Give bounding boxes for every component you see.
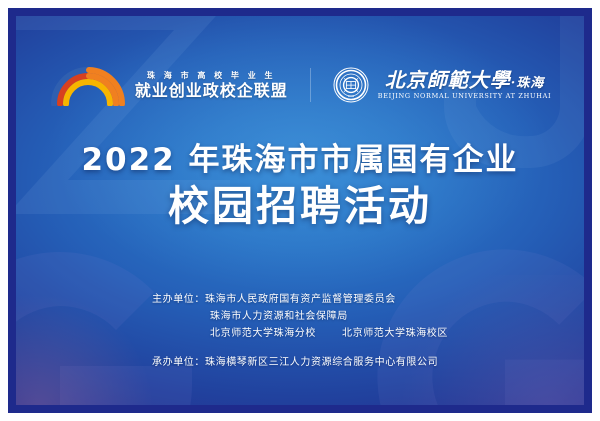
alliance-subtitle: 珠 海 市 高 校 毕 业 生 [147, 72, 276, 80]
university-campus-cn: 珠海 [516, 76, 544, 91]
host-group: 主办单位：珠海市人民政府国有资产监督管理委员会 珠海市人力资源和社会保障局 北京… [152, 291, 448, 371]
page-title: 2022 年珠海市市属国有企业 校园招聘活动 [16, 142, 584, 231]
alliance-text-block: 珠 海 市 高 校 毕 业 生 就业创业政校企联盟 [135, 72, 288, 99]
organizer-value: 珠海横琴新区三江人力资源综合服务中心有限公司 [205, 357, 438, 368]
university-logo: 北京師範大學·珠海 BEIJING NORMAL UNIVERSITY AT Z… [333, 67, 551, 103]
title-line-1: 2022 年珠海市市属国有企业 [16, 142, 584, 179]
university-name-en: BEIJING NORMAL UNIVERSITY AT ZHUHAI [378, 93, 551, 100]
title-line-2: 校园招聘活动 [16, 182, 584, 231]
organizer-line: 承办单位：珠海横琴新区三江人力资源综合服务中心有限公司 [152, 354, 448, 371]
host-line-3-a: 北京师范大学珠海分校 [210, 328, 316, 339]
host-line-2: 珠海市人力资源和社会保障局 [152, 308, 448, 325]
poster-canvas: 珠 海 市 高 校 毕 业 生 就业创业政校企联盟 [0, 0, 600, 421]
university-name-cn-row: 北京師範大學·珠海 [385, 70, 545, 90]
logo-row: 珠 海 市 高 校 毕 业 生 就业创业政校企联盟 [16, 64, 584, 106]
logo-divider [310, 68, 311, 102]
bnu-seal-icon [333, 67, 369, 103]
alliance-logo: 珠 海 市 高 校 毕 业 生 就业创业政校企联盟 [49, 64, 288, 106]
alliance-title: 就业创业政校企联盟 [135, 83, 288, 99]
host-line-1: 主办单位：珠海市人民政府国有资产监督管理委员会 [152, 291, 448, 308]
host-label: 主办单位： [152, 294, 205, 305]
university-name-cn: 北京師範大學 [385, 68, 511, 92]
poster-stage: 珠 海 市 高 校 毕 业 生 就业创业政校企联盟 [16, 16, 584, 405]
host-line-1-value: 珠海市人民政府国有资产监督管理委员会 [205, 294, 396, 305]
university-text-block: 北京師範大學·珠海 BEIJING NORMAL UNIVERSITY AT Z… [378, 70, 551, 100]
host-line-3-b: 北京师范大学珠海校区 [342, 328, 448, 339]
organizers-block: 主办单位：珠海市人民政府国有资产监督管理委员会 珠海市人力资源和社会保障局 北京… [16, 291, 584, 371]
rainbow-arc-icon [49, 64, 127, 106]
host-line-3: 北京师范大学珠海分校北京师范大学珠海校区 [152, 325, 448, 342]
organizer-label: 承办单位： [152, 357, 205, 368]
